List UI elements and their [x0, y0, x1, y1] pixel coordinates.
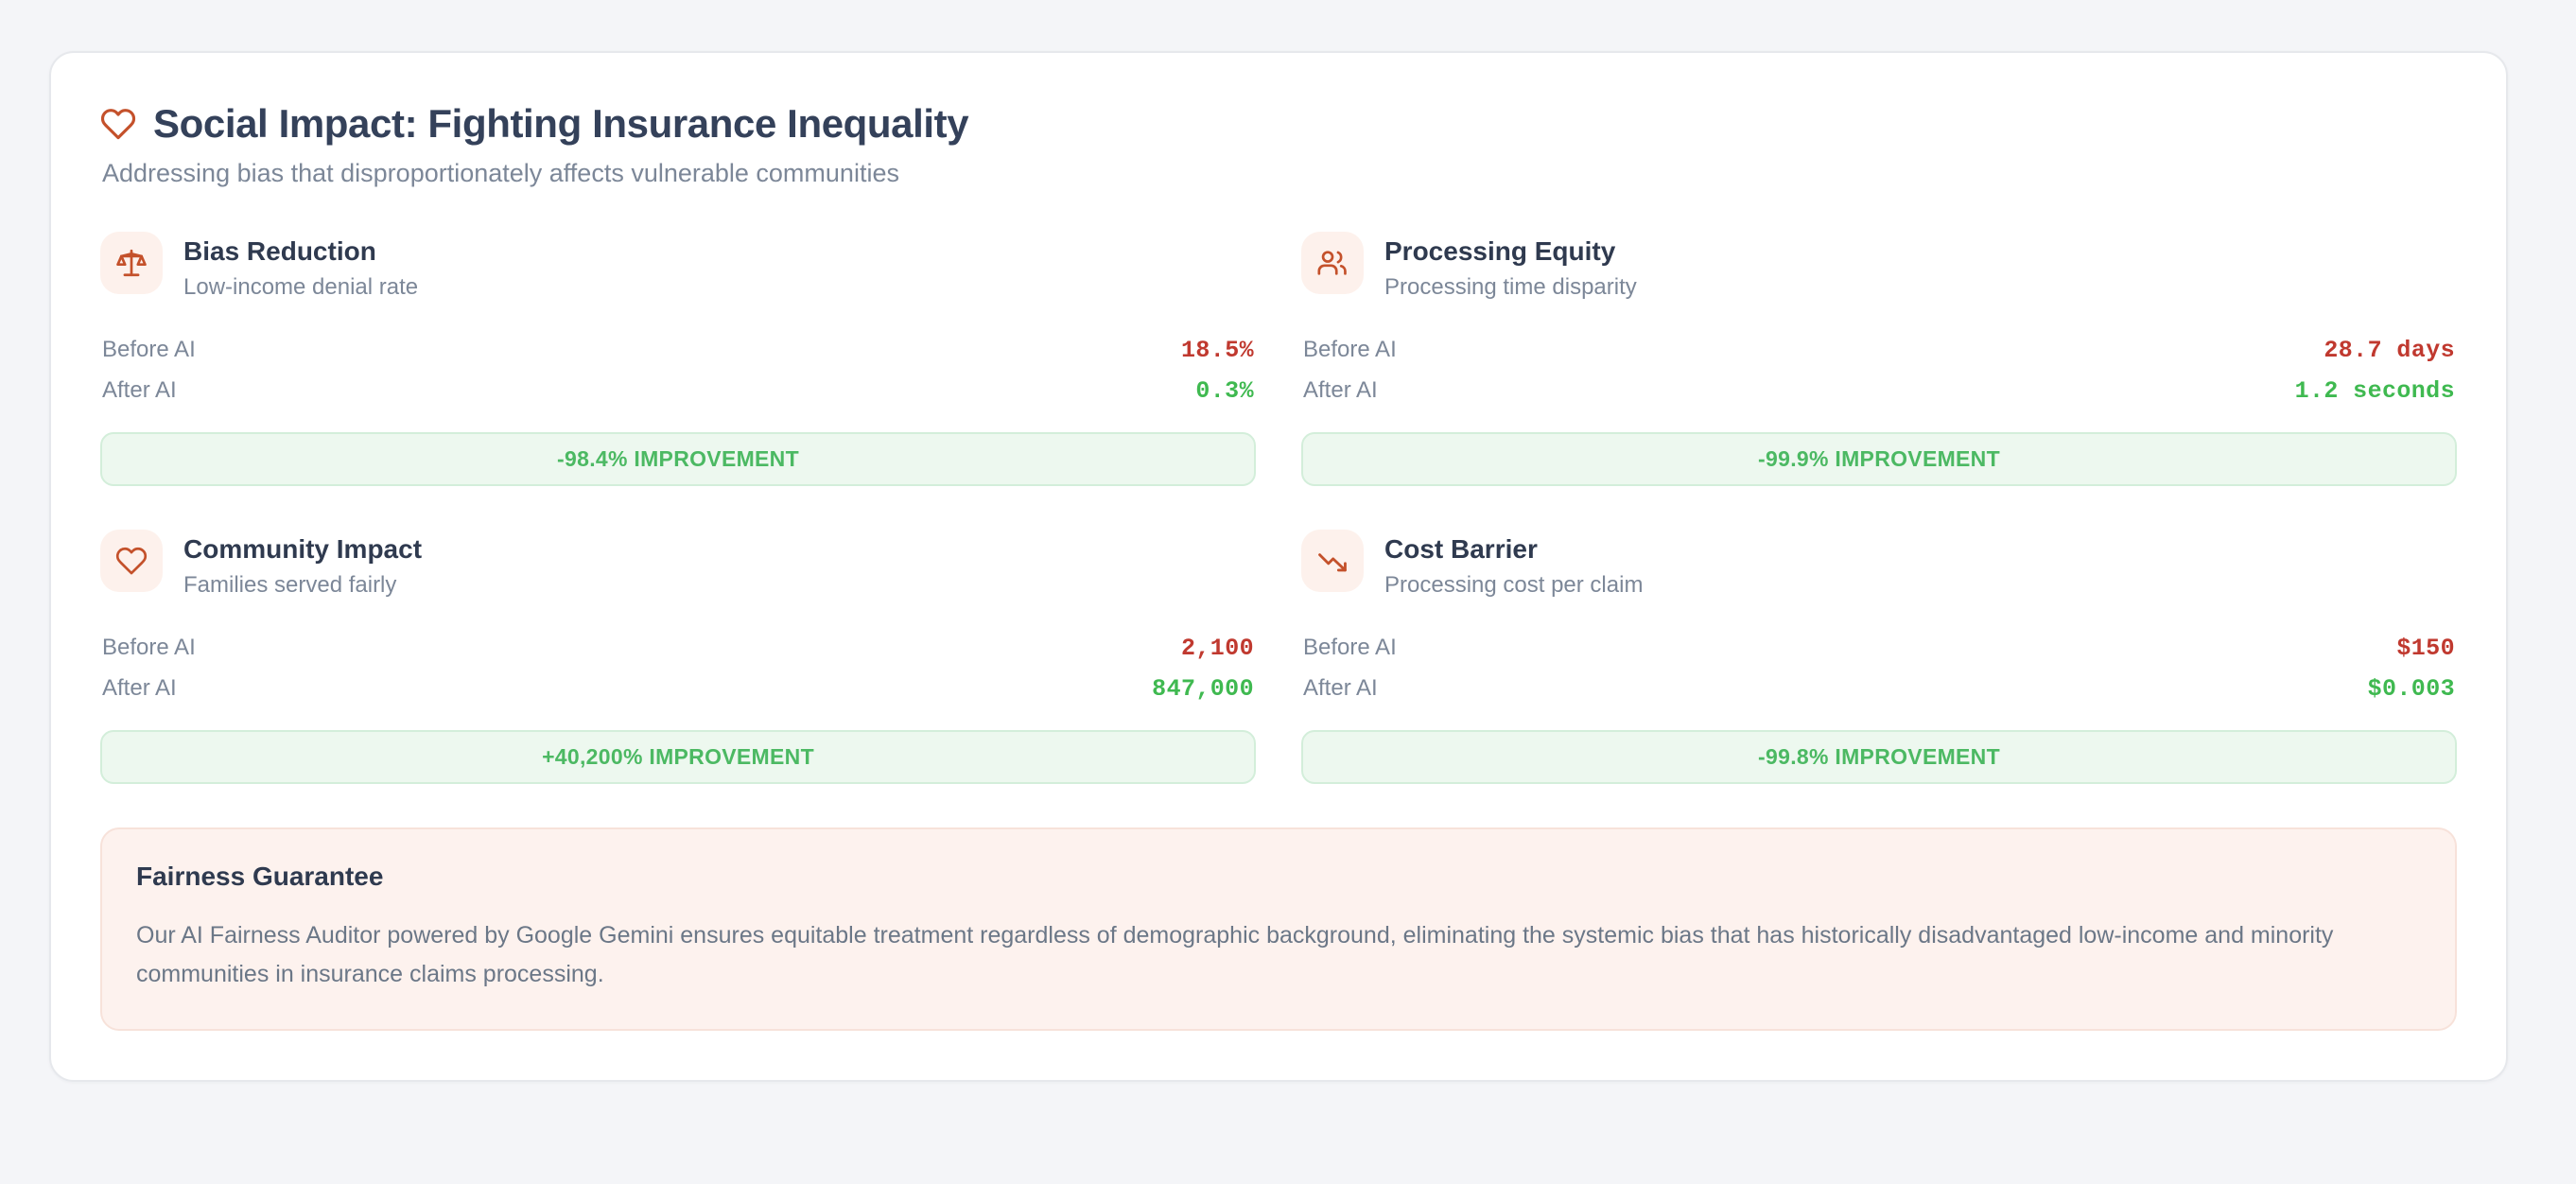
metric-rows: Before AI 28.7 days After AI 1.2 seconds [1301, 330, 2457, 411]
metric-row-after: After AI 847,000 [100, 669, 1256, 709]
metric-name: Community Impact [183, 532, 422, 566]
metric-card-community-impact: Community Impact Families served fairly … [100, 530, 1256, 784]
metric-row-before: Before AI 2,100 [100, 628, 1256, 669]
scales-balance-icon [100, 232, 163, 294]
metric-head-text: Community Impact Families served fairly [183, 530, 422, 600]
metrics-grid: Bias Reduction Low-income denial rate Be… [100, 232, 2457, 784]
metric-card-cost-barrier: Cost Barrier Processing cost per claim B… [1301, 530, 2457, 784]
after-value: 0.3% [1195, 377, 1254, 405]
metric-head: Processing Equity Processing time dispar… [1301, 232, 2457, 302]
after-label: After AI [1303, 377, 1378, 404]
metric-head: Cost Barrier Processing cost per claim [1301, 530, 2457, 600]
improvement-badge: -99.9% IMPROVEMENT [1301, 432, 2457, 486]
metric-row-before: Before AI $150 [1301, 628, 2457, 669]
title-row: Social Impact: Fighting Insurance Inequa… [100, 102, 2457, 146]
after-value: 847,000 [1152, 675, 1254, 703]
metric-name: Processing Equity [1384, 235, 1637, 268]
trending-down-icon [1301, 530, 1364, 592]
metric-description: Low-income denial rate [183, 273, 418, 302]
metric-description: Families served fairly [183, 571, 422, 600]
before-value: $150 [2396, 635, 2455, 662]
metric-rows: Before AI 2,100 After AI 847,000 [100, 628, 1256, 709]
metric-row-after: After AI 0.3% [100, 371, 1256, 411]
after-label: After AI [102, 377, 177, 404]
improvement-badge: +40,200% IMPROVEMENT [100, 730, 1256, 784]
after-label: After AI [102, 675, 177, 702]
page-root: Social Impact: Fighting Insurance Inequa… [0, 0, 2576, 1184]
after-label: After AI [1303, 675, 1378, 702]
metric-head: Community Impact Families served fairly [100, 530, 1256, 600]
metric-name: Bias Reduction [183, 235, 418, 268]
page-title: Social Impact: Fighting Insurance Inequa… [153, 102, 968, 146]
metric-description: Processing cost per claim [1384, 571, 1643, 600]
before-value: 2,100 [1181, 635, 1254, 662]
heart-icon [100, 106, 136, 142]
before-value: 28.7 days [2324, 337, 2455, 364]
improvement-badge: -98.4% IMPROVEMENT [100, 432, 1256, 486]
metric-row-after: After AI $0.003 [1301, 669, 2457, 709]
after-value: 1.2 seconds [2295, 377, 2455, 405]
metric-description: Processing time disparity [1384, 273, 1637, 302]
social-impact-card: Social Impact: Fighting Insurance Inequa… [49, 51, 2508, 1082]
before-label: Before AI [1303, 635, 1397, 661]
metric-rows: Before AI 18.5% After AI 0.3% [100, 330, 1256, 411]
improvement-badge: -99.8% IMPROVEMENT [1301, 730, 2457, 784]
metric-head-text: Cost Barrier Processing cost per claim [1384, 530, 1643, 600]
metric-head-text: Processing Equity Processing time dispar… [1384, 232, 1637, 302]
metric-head: Bias Reduction Low-income denial rate [100, 232, 1256, 302]
metric-name: Cost Barrier [1384, 532, 1643, 566]
metric-row-before: Before AI 18.5% [100, 330, 1256, 371]
fairness-guarantee-title: Fairness Guarantee [136, 862, 2421, 892]
fairness-guarantee-text: Our AI Fairness Auditor powered by Googl… [136, 916, 2421, 993]
metric-rows: Before AI $150 After AI $0.003 [1301, 628, 2457, 709]
page-subtitle: Addressing bias that disproportionately … [100, 159, 2457, 188]
before-value: 18.5% [1181, 337, 1254, 364]
card-header: Social Impact: Fighting Insurance Inequa… [100, 102, 2457, 188]
after-value: $0.003 [2368, 675, 2455, 703]
metric-head-text: Bias Reduction Low-income denial rate [183, 232, 418, 302]
fairness-guarantee-panel: Fairness Guarantee Our AI Fairness Audit… [100, 827, 2457, 1031]
before-label: Before AI [102, 635, 196, 661]
metric-row-before: Before AI 28.7 days [1301, 330, 2457, 371]
metric-row-after: After AI 1.2 seconds [1301, 371, 2457, 411]
before-label: Before AI [102, 337, 196, 363]
heart-icon [100, 530, 163, 592]
users-icon [1301, 232, 1364, 294]
metric-card-processing-equity: Processing Equity Processing time dispar… [1301, 232, 2457, 486]
metric-card-bias-reduction: Bias Reduction Low-income denial rate Be… [100, 232, 1256, 486]
before-label: Before AI [1303, 337, 1397, 363]
